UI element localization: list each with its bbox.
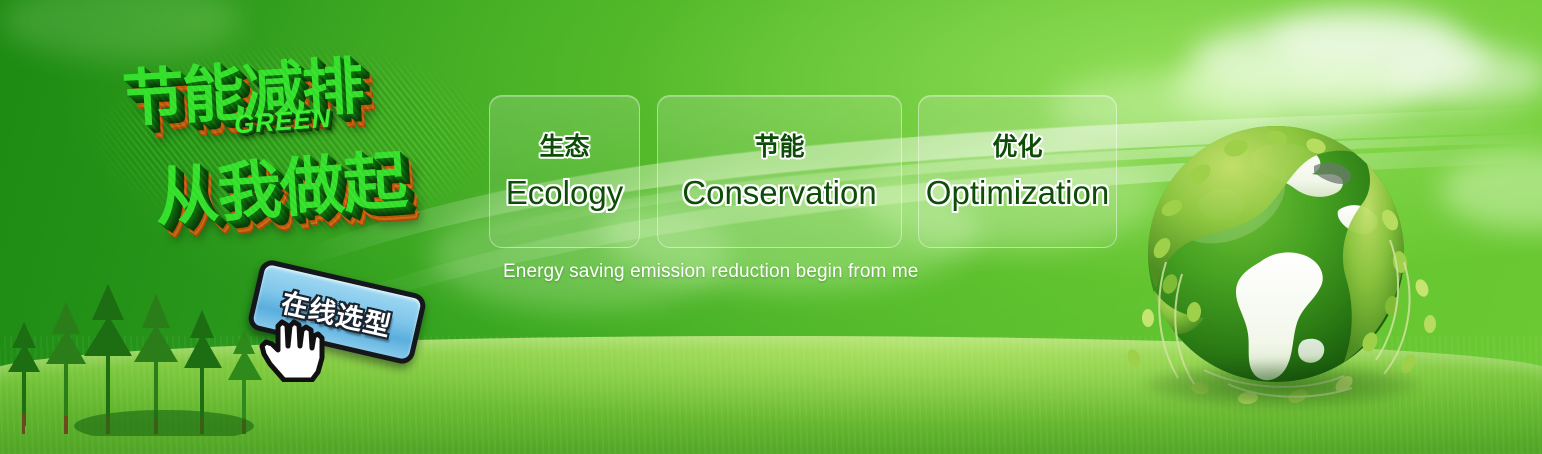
feature-card-conservation[interactable]: 节能 Conservation [657, 95, 902, 248]
eco-banner: 节能减排 GREEN 从我做起 在线选型 生态 Ecology 节能 Conse… [0, 0, 1542, 454]
feature-card-en-label: Optimization [926, 176, 1109, 209]
feature-card-cn-label: 节能 [754, 135, 804, 160]
title-artwork: 节能减排 GREEN 从我做起 [96, 34, 496, 274]
feature-card-optimization[interactable]: 优化 Optimization [918, 95, 1117, 248]
feature-card-en-label: Conservation [682, 176, 876, 209]
feature-card-ecology[interactable]: 生态 Ecology [489, 95, 640, 248]
online-selection-cta[interactable]: 在线选型 [252, 272, 432, 377]
banner-tagline: Energy saving emission reduction begin f… [503, 261, 918, 283]
feature-card-cn-label: 优化 [992, 135, 1042, 160]
title-line-2: 从我做起 [151, 129, 409, 238]
feature-card-cn-label: 生态 [539, 135, 589, 160]
hand-pointer-icon [254, 310, 332, 382]
leafy-globe-icon [1108, 112, 1448, 432]
feature-card-en-label: Ecology [506, 176, 623, 209]
